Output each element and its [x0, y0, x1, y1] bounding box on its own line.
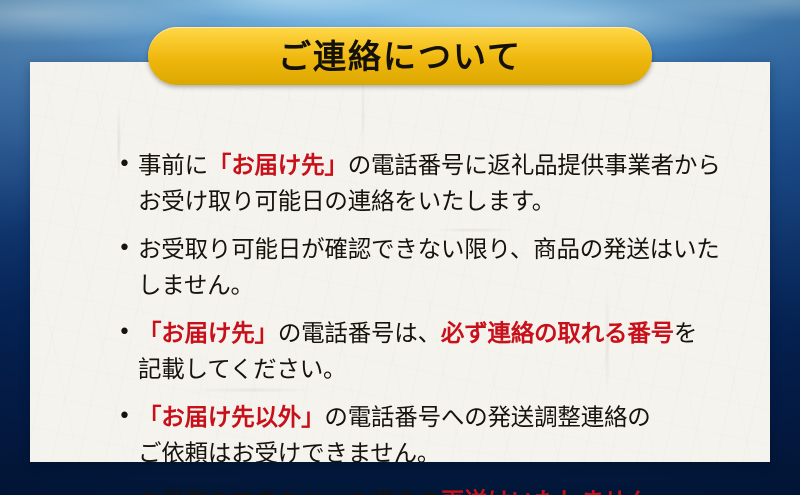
list-item: •「お届け先」の電話番号は、必ず連絡の取れる番号を記載してください。: [118, 315, 726, 387]
list-item-text: 「お届け先」の電話番号は、必ず連絡の取れる番号を記載してください。: [138, 315, 726, 387]
text-line: お受け取り可能日の連絡をいたします。: [138, 183, 726, 219]
text-line: ご依頼はお受けできません。: [138, 435, 726, 471]
bullet-icon: •: [118, 315, 138, 351]
list-item: •お受取り可能日が確認できない限り、商品の発送はいたしません。: [118, 231, 726, 303]
poster-canvas: •事前に「お届け先」の電話番号に返礼品提供事業者からお受け取り可能日の連絡をいた…: [0, 0, 800, 495]
body-text: しません。: [138, 271, 254, 299]
list-item-text: お受取り可能日が確認できない限り、商品の発送はいたしません。: [138, 231, 726, 303]
text-line: 事前に「お届け先」の電話番号に返礼品提供事業者から: [138, 147, 726, 183]
text-line: 「お届け先」の電話番号は、必ず連絡の取れる番号を: [138, 315, 726, 351]
body-text: ご依頼はお受けできません。: [138, 439, 440, 467]
list-item-text: お受取りできなかった場合の再送はいたしません。: [138, 483, 726, 495]
text-line: お受取りできなかった場合の再送はいたしません。: [138, 483, 726, 495]
emphasis-text: 「お届け先」: [138, 319, 278, 347]
title-banner: ご連絡について: [148, 27, 652, 85]
body-text: お受け取り可能日の連絡をいたします。: [138, 187, 555, 215]
bullet-icon: •: [118, 399, 138, 435]
body-text: の電話番号に返礼品提供事業者から: [348, 151, 721, 179]
emphasis-text: 「お届け先以外」: [138, 403, 324, 431]
list-item-text: 「お届け先以外」の電話番号への発送調整連絡のご依頼はお受けできません。: [138, 399, 726, 471]
list-item: •「お届け先以外」の電話番号への発送調整連絡のご依頼はお受けできません。: [118, 399, 726, 471]
page-title: ご連絡について: [278, 40, 522, 73]
emphasis-text: 「お届け先」: [208, 151, 348, 179]
text-line: お受取り可能日が確認できない限り、商品の発送はいた: [138, 231, 726, 267]
bullet-icon: •: [118, 147, 138, 183]
list-item: •事前に「お届け先」の電話番号に返礼品提供事業者からお受け取り可能日の連絡をいた…: [118, 147, 726, 219]
bullet-icon: •: [118, 231, 138, 267]
notice-list: •事前に「お届け先」の電話番号に返礼品提供事業者からお受け取り可能日の連絡をいた…: [118, 147, 726, 495]
washi-paper-panel: •事前に「お届け先」の電話番号に返礼品提供事業者からお受け取り可能日の連絡をいた…: [30, 62, 770, 462]
body-text: の電話番号は、: [278, 319, 441, 347]
body-text: 記載してください。: [138, 355, 346, 383]
emphasis-text: 必ず連絡の取れる番号: [441, 319, 674, 347]
text-line: しません。: [138, 267, 726, 303]
bullet-icon: •: [118, 483, 138, 495]
text-line: 記載してください。: [138, 351, 726, 387]
body-text: の電話番号への発送調整連絡の: [324, 403, 650, 431]
body-text: お受取り可能日が確認できない限り、商品の発送はいた: [138, 235, 720, 263]
body-text: お受取りできなかった場合の: [138, 487, 441, 495]
text-line: 「お届け先以外」の電話番号への発送調整連絡の: [138, 399, 726, 435]
list-item: •お受取りできなかった場合の再送はいたしません。: [118, 483, 726, 495]
body-text: 事前に: [138, 151, 208, 179]
emphasis-text: 再送はいたしません。: [441, 487, 673, 495]
body-text: を: [674, 319, 697, 347]
list-item-text: 事前に「お届け先」の電話番号に返礼品提供事業者からお受け取り可能日の連絡をいたし…: [138, 147, 726, 219]
